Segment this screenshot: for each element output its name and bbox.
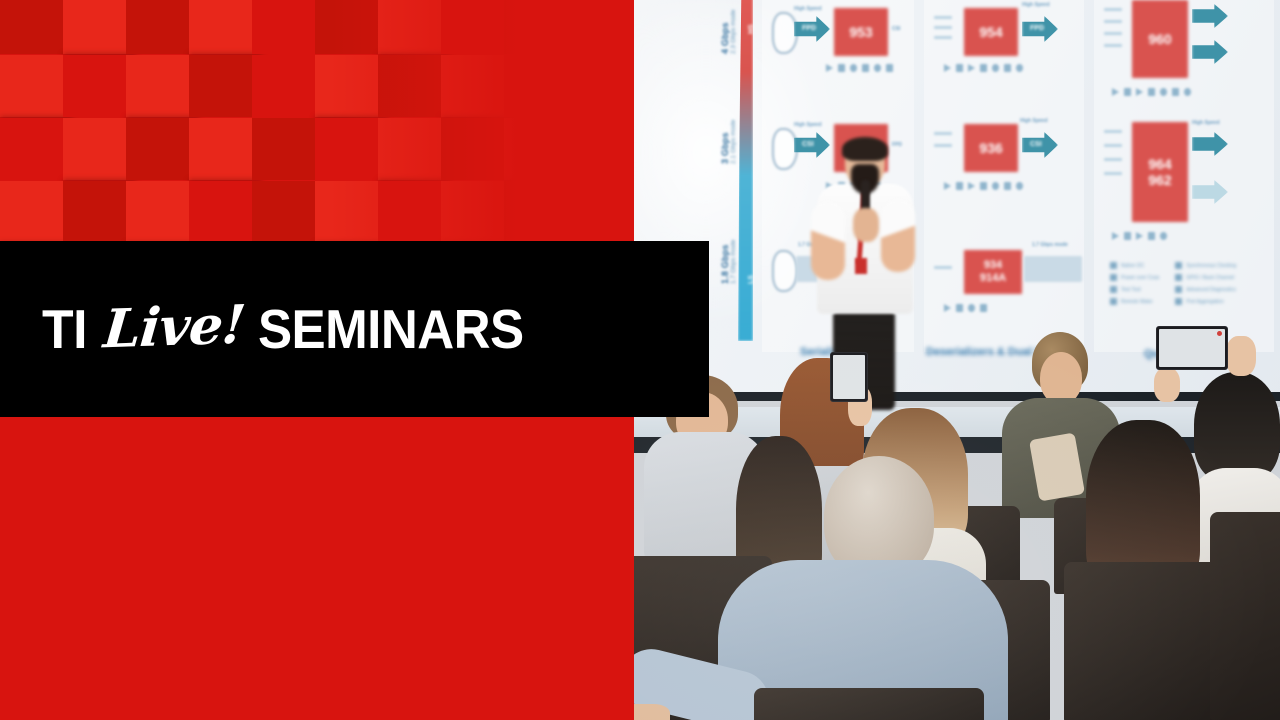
legend-label-1: Synchronous Clocking: [1186, 263, 1236, 269]
pattern-tile: [378, 181, 441, 243]
pattern-tile: [567, 55, 630, 117]
port-pin-r1c1-b: [934, 144, 952, 147]
pattern-tile: [252, 0, 315, 54]
legend-item-5: Advanced Diagnostics: [1175, 286, 1236, 293]
pattern-tile: [126, 55, 189, 117]
legend-item-7: Port Aggregation: [1175, 298, 1236, 305]
port-pin-r1c2-a: [1104, 130, 1122, 133]
pattern-tile: [315, 0, 378, 54]
slide-part-934: 934: [984, 259, 1002, 272]
high-speed-tag-0: High Speed: [794, 6, 822, 12]
high-speed-tag-2: High Speed: [794, 122, 822, 128]
pattern-tile: [504, 55, 567, 117]
checkerboard-pattern: [0, 0, 635, 245]
pattern-tile: [441, 0, 504, 54]
port-pin-r2c1-a: [934, 266, 952, 269]
low-speed-tag-1: 1.7 Gbps mode: [1032, 242, 1068, 248]
legend-item-2: Power over Coax: [1110, 274, 1159, 281]
legend-item-0: Native I2C: [1110, 262, 1159, 269]
legend-item-3: GPIO / Back Channel: [1175, 274, 1236, 281]
pattern-tile: [189, 181, 252, 243]
slide-part-934-914a: 934 914A: [964, 250, 1022, 294]
pattern-tile: [0, 181, 63, 243]
chair-front-far-right: [1210, 512, 1280, 720]
pattern-tile: [63, 181, 126, 243]
presenter-hair: [842, 137, 888, 161]
port-pin-r0c2-a: [1104, 8, 1122, 11]
pattern-tile: [315, 181, 378, 243]
legend-label-0: Native I2C: [1121, 263, 1144, 269]
legend-label-5: Advanced Diagnostics: [1186, 287, 1235, 293]
legend-label-4: Test Tool: [1121, 287, 1141, 293]
phone-device-back: [830, 352, 868, 402]
feature-icons-r0c0: [826, 64, 893, 72]
slide-axis-sub-2: 1.7 Gbps mode: [730, 240, 737, 284]
chair-front-right: [1064, 562, 1222, 720]
pattern-tile: [315, 55, 378, 117]
port-pin-r0c1-b: [934, 26, 952, 29]
slide-axis-label-1: 3 Gbps: [720, 132, 730, 164]
pattern-tile: [126, 118, 189, 180]
arrow-label-0: FPD: [802, 25, 816, 32]
slide-part-954: 954: [964, 8, 1018, 56]
slide-part-953: 953: [834, 8, 888, 56]
pattern-tile: [378, 118, 441, 180]
legend-item-4: Test Tool: [1110, 286, 1159, 293]
high-speed-tag-3: High Speed: [1020, 118, 1048, 124]
pattern-tile: [189, 118, 252, 180]
feature-icons-r1c2: [1112, 232, 1167, 240]
arrow-label-1: FPD: [1030, 25, 1044, 32]
pattern-tile: [378, 55, 441, 117]
port-pin-r0c2-d: [1104, 44, 1122, 47]
pattern-tile: [504, 181, 567, 243]
pattern-tile: [378, 0, 441, 54]
title-bar: TI Live! SEMINARS: [0, 241, 709, 417]
feature-icons-r1c1: [944, 182, 1023, 190]
slide-part-962: 962: [1148, 172, 1171, 188]
slide-legend: Native I2C Synchronous Clocking Power ov…: [1110, 262, 1236, 305]
chair-front-center: [754, 688, 984, 720]
high-speed-tag-4: High Speed: [1192, 120, 1220, 126]
slide-part-964-962: 964 962: [1132, 122, 1188, 222]
port-pin-r1c2-b: [1104, 144, 1122, 147]
legend-label-6: Remote Wake: [1121, 299, 1153, 305]
pattern-tile: [252, 55, 315, 117]
pattern-tile: [504, 0, 567, 54]
pattern-tile: [126, 0, 189, 54]
port-pin-r0c1-a: [934, 16, 952, 19]
pattern-tile: [0, 118, 63, 180]
pattern-tile: [63, 0, 126, 54]
pattern-tile: [252, 181, 315, 243]
slide-axis-label-2: 1.8 Gbps: [720, 244, 730, 284]
lens-icon-r2c0: [772, 250, 798, 292]
lens-bar-r2c1: [1024, 256, 1082, 282]
arrow-label-3: CSI: [1030, 141, 1042, 148]
pattern-tile: [441, 181, 504, 243]
slide-speed-bar-top-label: HS: [748, 24, 755, 34]
title-live-script: Live!: [101, 298, 246, 356]
port-pin-r1c1-a: [934, 132, 952, 135]
legend-label-3: GPIO / Back Channel: [1186, 275, 1234, 281]
page-title: TI Live! SEMINARS: [42, 302, 544, 357]
high-speed-tag-1: High Speed: [1022, 2, 1050, 8]
pattern-tile: [504, 118, 567, 180]
pattern-tile: [441, 118, 504, 180]
phone-device-right: [1156, 326, 1228, 370]
pattern-tile: [63, 55, 126, 117]
legend-label-2: Power over Coax: [1121, 275, 1159, 281]
port-pin-r1c2-c: [1104, 158, 1122, 161]
feature-icons-r0c2: [1112, 88, 1191, 96]
legend-item-6: Remote Wake: [1110, 298, 1159, 305]
presenter-right-arm: [881, 200, 915, 272]
title-subject: SEMINARS: [258, 302, 524, 357]
port-pin-r0c2-b: [1104, 20, 1122, 23]
pattern-tile: [189, 55, 252, 117]
pattern-tile: [441, 55, 504, 117]
slide-speed-bar-bottom-label: LS: [748, 275, 755, 284]
slide-axis-label-0: 4 Gbps: [720, 22, 730, 54]
port-pin-r0c2-c: [1104, 32, 1122, 35]
pattern-tile: [567, 0, 630, 54]
pattern-tile: [189, 0, 252, 54]
pattern-tile: [63, 118, 126, 180]
seminar-photo: 4 Gbps 2.3 Gbps mode 3 Gbps 2.1 Gbps mod…: [634, 0, 1280, 720]
slide-part-960: 960: [1132, 0, 1188, 78]
pattern-tile: [567, 118, 630, 180]
presenter-left-arm: [811, 202, 845, 280]
presenter-badge: [855, 258, 867, 274]
pattern-tile: [0, 0, 63, 54]
slide-part-914a: 914A: [980, 272, 1006, 285]
pattern-tile: [315, 118, 378, 180]
feature-icons-r2c1: [944, 304, 987, 312]
pattern-tile: [126, 181, 189, 243]
slide-part-936: 936: [964, 124, 1018, 172]
legend-label-7: Port Aggregation: [1186, 299, 1223, 305]
slide-axis-sub-0: 2.3 Gbps mode: [730, 10, 737, 54]
seminar-banner: 4 Gbps 2.3 Gbps mode 3 Gbps 2.1 Gbps mod…: [0, 0, 1280, 720]
pattern-tile: [252, 118, 315, 180]
part-port-label-0: CSI: [892, 26, 900, 32]
port-pin-r1c2-d: [1104, 172, 1122, 175]
pattern-tile: [567, 181, 630, 243]
slide-axis-sub-1: 2.1 Gbps mode: [730, 120, 737, 164]
pattern-tile: [0, 55, 63, 117]
title-brand: TI: [42, 302, 87, 357]
legend-item-1: Synchronous Clocking: [1175, 262, 1236, 269]
port-pin-r0c1-c: [934, 36, 952, 39]
feature-icons-r0c1: [944, 64, 1023, 72]
slide-part-964: 964: [1148, 156, 1171, 172]
presenter-hand: [853, 208, 879, 242]
